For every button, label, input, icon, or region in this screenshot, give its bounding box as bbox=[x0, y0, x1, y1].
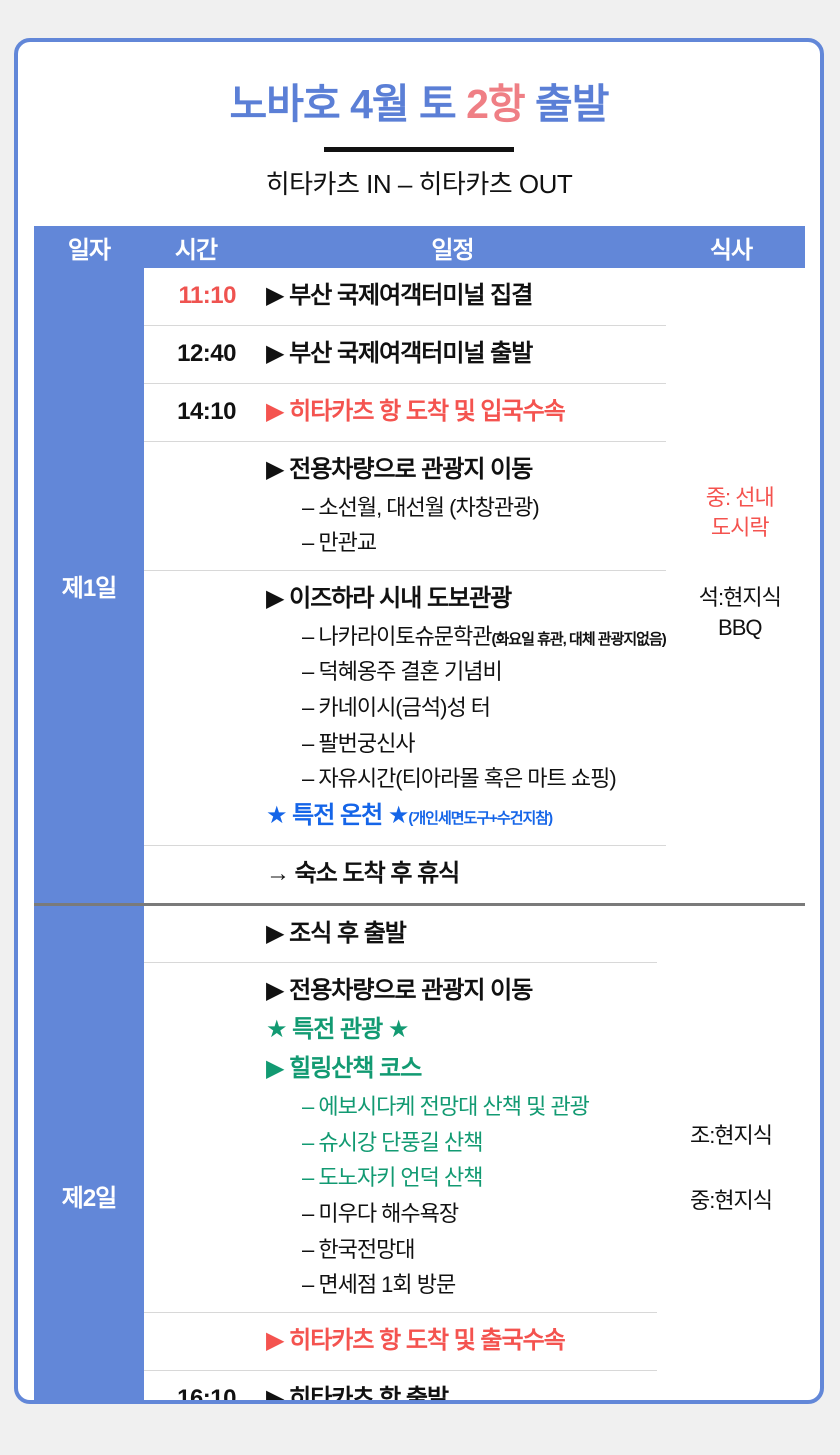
plan-text: – 도노자키 언덕 산책 bbox=[302, 1165, 483, 1190]
day-body: 11:10▶ 부산 국제여객터미널 집결12:40▶ 부산 국제여객터미널 출발… bbox=[144, 268, 814, 903]
plan-text: – 나카라이토슈문학관 bbox=[302, 624, 492, 649]
plan-text: – 팔번궁신사 bbox=[302, 731, 415, 756]
row-plan: ▶ 부산 국제여객터미널 출발 bbox=[248, 326, 666, 383]
plan-text: ▶ 전용차량으로 관광지 이동 bbox=[266, 456, 532, 483]
plan-subitem: – 에보시다케 전망대 산책 및 관광 bbox=[266, 1089, 657, 1125]
plan-text: – 만관교 bbox=[302, 530, 376, 555]
table-row: ▶ 전용차량으로 관광지 이동★ 특전 관광 ★▶ 힐링산책 코스– 에보시다케… bbox=[144, 963, 657, 1312]
row-plan: ▶ 이즈하라 시내 도보관광– 나카라이토슈문학관(화요일 휴관, 대체 관광지… bbox=[248, 571, 666, 845]
title-text-suffix: 출발 bbox=[525, 81, 609, 127]
plan-item: ▶ 히타카츠 항 도착 및 입국수속 bbox=[266, 393, 666, 432]
column-header-meal: 식사 bbox=[657, 230, 805, 265]
meal-line: BBQ bbox=[666, 613, 814, 643]
plan-text: ★ 특전 온천 ★ bbox=[266, 802, 408, 829]
table-row: 14:10▶ 히타카츠 항 도착 및 입국수속 bbox=[144, 384, 666, 442]
day-body: ▶ 조식 후 출발▶ 전용차량으로 관광지 이동★ 특전 관광 ★▶ 힐링산책 … bbox=[144, 906, 805, 1405]
day-rows: 11:10▶ 부산 국제여객터미널 집결12:40▶ 부산 국제여객터미널 출발… bbox=[144, 268, 666, 903]
plan-item: ▶ 히타카츠 항 도착 및 출국수속 bbox=[266, 1322, 657, 1361]
plan-text: ▶ 히타카츠 항 도착 및 출국수속 bbox=[266, 1327, 565, 1354]
day-group: 제2일▶ 조식 후 출발▶ 전용차량으로 관광지 이동★ 특전 관광 ★▶ 힐링… bbox=[34, 903, 805, 1405]
plan-text: ▶ 부산 국제여객터미널 집결 bbox=[266, 282, 532, 309]
plan-text: – 미우다 해수욕장 bbox=[302, 1201, 458, 1226]
row-time: 12:40 bbox=[144, 340, 248, 368]
title-block: 노바호 4월 토 2항 출발 히타카츠 IN – 히타카츠 OUT bbox=[18, 42, 820, 201]
plan-item: ▶ 히타카츠 항 출발 bbox=[266, 1380, 657, 1404]
plan-subitem: – 자유시간(티아라몰 혹은 마트 쇼핑) bbox=[266, 761, 666, 797]
plan-item: ▶ 전용차량으로 관광지 이동 bbox=[266, 451, 666, 490]
plan-text: ▶ 히타카츠 항 출발 bbox=[266, 1385, 448, 1404]
column-header-day: 일자 bbox=[34, 230, 144, 265]
plan-text: – 슈시강 단풍길 산책 bbox=[302, 1130, 483, 1155]
plan-text: – 카네이시(금석)성 터 bbox=[302, 695, 490, 720]
plan-item: ▶ 힐링산책 코스 bbox=[266, 1050, 657, 1089]
meal-line: 조:현지식 bbox=[657, 1121, 805, 1151]
plan-subitem: – 면세점 1회 방문 bbox=[266, 1267, 657, 1303]
meal-column: 조:현지식중:현지식 bbox=[657, 906, 805, 1405]
title-text-primary: 노바호 4월 토 bbox=[230, 81, 467, 127]
page-subtitle: 히타카츠 IN – 히타카츠 OUT bbox=[18, 164, 820, 201]
plan-item: ▶ 부산 국제여객터미널 출발 bbox=[266, 335, 666, 374]
plan-item: ★ 특전 온천 ★(개인세면도구+수건지참) bbox=[266, 797, 666, 836]
plan-item: ▶ 전용차량으로 관광지 이동 bbox=[266, 972, 657, 1011]
day-label: 제1일 bbox=[34, 268, 144, 903]
plan-text: – 덕혜옹주 결혼 기념비 bbox=[302, 659, 502, 684]
plan-item: ▶ 조식 후 출발 bbox=[266, 915, 657, 954]
row-time: 16:10 bbox=[144, 1385, 248, 1404]
row-plan: → 숙소 도착 후 휴식 bbox=[248, 846, 666, 903]
table-row: 12:40▶ 부산 국제여객터미널 출발 bbox=[144, 326, 666, 384]
itinerary-table: 일자 시간 일정 식사 제1일11:10▶ 부산 국제여객터미널 집결12:40… bbox=[34, 226, 805, 1404]
table-header-row: 일자 시간 일정 식사 bbox=[34, 226, 805, 268]
plan-subitem: – 덕혜옹주 결혼 기념비 bbox=[266, 654, 666, 690]
day-label: 제2일 bbox=[34, 906, 144, 1405]
row-plan: ▶ 전용차량으로 관광지 이동– 소선월, 대선월 (차창관광)– 만관교 bbox=[248, 442, 666, 570]
plan-note: (개인세면도구+수건지참) bbox=[408, 810, 552, 827]
row-plan: ▶ 히타카츠 항 도착 및 입국수속 bbox=[248, 384, 666, 441]
table-row: 11:10▶ 부산 국제여객터미널 집결 bbox=[144, 268, 666, 326]
plan-text: – 에보시다케 전망대 산책 및 관광 bbox=[302, 1094, 589, 1119]
plan-text: – 한국전망대 bbox=[302, 1237, 415, 1262]
meal-line: 석:현지식 bbox=[666, 583, 814, 613]
plan-text: ★ 특전 관광 ★ bbox=[266, 1016, 408, 1043]
plan-text: ▶ 히타카츠 항 도착 및 입국수속 bbox=[266, 398, 565, 425]
row-plan: ▶ 히타카츠 항 도착 및 출국수속 bbox=[248, 1313, 657, 1370]
table-row: ▶ 히타카츠 항 도착 및 출국수속 bbox=[144, 1313, 657, 1371]
plan-item: ★ 특전 관광 ★ bbox=[266, 1011, 657, 1050]
plan-note: (화요일 휴관, 대체 관광지없음) bbox=[492, 631, 666, 648]
plan-text: → 숙소 도착 후 휴식 bbox=[266, 860, 459, 887]
row-plan: ▶ 부산 국제여객터미널 집결 bbox=[248, 268, 666, 325]
table-row: 16:10▶ 히타카츠 항 출발 bbox=[144, 1371, 657, 1404]
title-text-accent: 2항 bbox=[466, 81, 525, 127]
plan-subitem: – 카네이시(금석)성 터 bbox=[266, 690, 666, 726]
plan-text: ▶ 부산 국제여객터미널 출발 bbox=[266, 340, 532, 367]
plan-text: ▶ 힐링산책 코스 bbox=[266, 1055, 421, 1082]
plan-subitem: – 한국전망대 bbox=[266, 1232, 657, 1268]
plan-text: ▶ 이즈하라 시내 도보관광 bbox=[266, 585, 511, 612]
day-rows: ▶ 조식 후 출발▶ 전용차량으로 관광지 이동★ 특전 관광 ★▶ 힐링산책 … bbox=[144, 906, 657, 1405]
plan-text: – 소선월, 대선월 (차창관광) bbox=[302, 495, 539, 520]
plan-text: ▶ 전용차량으로 관광지 이동 bbox=[266, 977, 532, 1004]
plan-item: ▶ 이즈하라 시내 도보관광 bbox=[266, 580, 666, 619]
day-group: 제1일11:10▶ 부산 국제여객터미널 집결12:40▶ 부산 국제여객터미널… bbox=[34, 268, 805, 903]
table-row: ▶ 전용차량으로 관광지 이동– 소선월, 대선월 (차창관광)– 만관교 bbox=[144, 442, 666, 571]
plan-text: ▶ 조식 후 출발 bbox=[266, 920, 406, 947]
title-divider bbox=[324, 147, 514, 152]
meal-entry: 조:현지식 bbox=[657, 1121, 805, 1151]
meal-entry: 석:현지식BBQ bbox=[666, 583, 814, 642]
row-plan: ▶ 조식 후 출발 bbox=[248, 906, 657, 963]
plan-subitem: – 슈시강 단풍길 산책 bbox=[266, 1125, 657, 1161]
plan-item: → 숙소 도착 후 휴식 bbox=[266, 855, 666, 894]
meal-column: 중: 선내도시락석:현지식BBQ bbox=[666, 268, 814, 903]
plan-subitem: – 소선월, 대선월 (차창관광) bbox=[266, 490, 666, 526]
table-row: ▶ 조식 후 출발 bbox=[144, 906, 657, 964]
column-header-plan: 일정 bbox=[248, 230, 657, 265]
row-plan: ▶ 히타카츠 항 출발 bbox=[248, 1371, 657, 1404]
table-body: 제1일11:10▶ 부산 국제여객터미널 집결12:40▶ 부산 국제여객터미널… bbox=[34, 268, 805, 1404]
meal-line: 도시락 bbox=[666, 513, 814, 543]
row-time: 11:10 bbox=[144, 282, 248, 310]
meal-entry: 중: 선내도시락 bbox=[666, 483, 814, 542]
row-time: 14:10 bbox=[144, 398, 248, 426]
plan-text: – 자유시간(티아라몰 혹은 마트 쇼핑) bbox=[302, 766, 616, 791]
plan-subitem: – 미우다 해수욕장 bbox=[266, 1196, 657, 1232]
plan-subitem: – 나카라이토슈문학관(화요일 휴관, 대체 관광지없음) bbox=[266, 619, 666, 655]
plan-subitem: – 팔번궁신사 bbox=[266, 726, 666, 762]
meal-line: 중: 선내 bbox=[666, 483, 814, 513]
table-row: → 숙소 도착 후 휴식 bbox=[144, 846, 666, 903]
meal-line: 중:현지식 bbox=[657, 1186, 805, 1216]
row-plan: ▶ 전용차량으로 관광지 이동★ 특전 관광 ★▶ 힐링산책 코스– 에보시다케… bbox=[248, 963, 657, 1311]
plan-item: ▶ 부산 국제여객터미널 집결 bbox=[266, 277, 666, 316]
meal-entry: 중:현지식 bbox=[657, 1186, 805, 1216]
plan-text: – 면세점 1회 방문 bbox=[302, 1272, 455, 1297]
page-title: 노바호 4월 토 2항 출발 bbox=[18, 84, 820, 125]
plan-subitem: – 도노자키 언덕 산책 bbox=[266, 1160, 657, 1196]
table-row: ▶ 이즈하라 시내 도보관광– 나카라이토슈문학관(화요일 휴관, 대체 관광지… bbox=[144, 571, 666, 846]
column-header-time: 시간 bbox=[144, 230, 248, 265]
itinerary-card: 노바호 4월 토 2항 출발 히타카츠 IN – 히타카츠 OUT 일자 시간 … bbox=[14, 38, 824, 1404]
plan-subitem: – 만관교 bbox=[266, 525, 666, 561]
